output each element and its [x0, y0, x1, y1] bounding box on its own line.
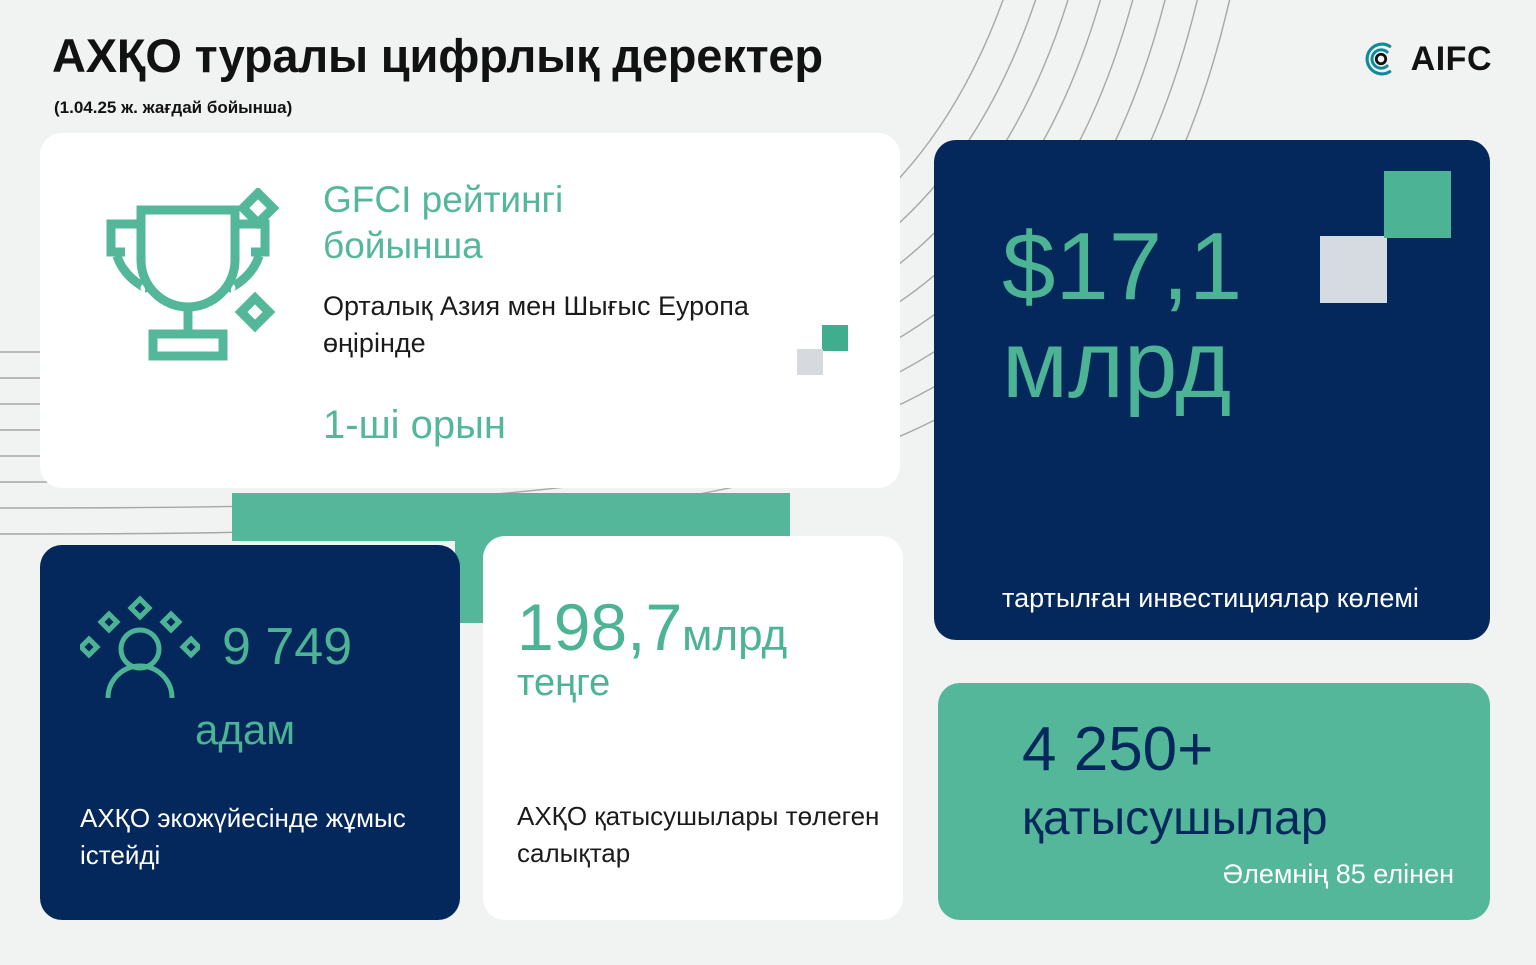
aifc-circle-mark-icon [1360, 38, 1402, 80]
taxes-unit: теңге [517, 664, 610, 702]
decoration-square-gray-small [797, 349, 823, 375]
employees-label: АХҚО экожүйесінде жұмыс істейді [80, 800, 460, 874]
employees-unit: адам [195, 709, 460, 751]
taxes-label: АХҚО қатысушылары төлеген салықтар [517, 798, 903, 872]
trophy-icon-wrap [40, 133, 285, 378]
connector-bar-horizontal [232, 493, 790, 541]
decoration-square-teal-large [1384, 171, 1451, 238]
aifc-logo: AIFC [1360, 38, 1492, 80]
card-participants: 4 250+ қатысушылар Әлемнің 85 елінен [938, 683, 1490, 920]
card-taxes: 198,7млрд теңге АХҚО қатысушылары төлеге… [483, 536, 903, 920]
participants-note: Әлемнің 85 елінен [1223, 861, 1454, 888]
gfci-rank-value: 1-ші орын [323, 403, 753, 448]
taxes-value: 198,7млрд [517, 594, 787, 660]
aifc-logo-text: AIFC [1411, 42, 1492, 76]
employees-number: 9 749 [222, 621, 352, 673]
participants-number: 4 250+ [1022, 719, 1213, 781]
investments-value: $17,1 млрд [1002, 218, 1242, 414]
participants-label: қатысушылар [1022, 795, 1328, 843]
investments-value-line1: $17,1 [1002, 213, 1242, 320]
trophy-icon [95, 188, 285, 373]
infographic-canvas: АХҚО туралы цифрлық деректер (1.04.25 ж.… [0, 0, 1536, 965]
card-employees: 9 749 адам АХҚО экожүйесінде жұмыс істей… [40, 545, 460, 920]
taxes-value-number: 198,7 [517, 590, 682, 664]
gfci-subtext: Орталық Азия мен Шығыс Еуропа өңірінде [323, 288, 753, 364]
gfci-text-block: GFCI рейтингі бойынша Орталық Азия мен Ш… [285, 133, 753, 448]
page-subtitle: (1.04.25 ж. жағдай бойынша) [54, 98, 292, 118]
taxes-value-suffix: млрд [682, 611, 787, 660]
decoration-square-teal-small [822, 325, 848, 351]
card-investments: $17,1 млрд тартылған инвестициялар көлем… [934, 140, 1490, 640]
page-title: АХҚО туралы цифрлық деректер [52, 28, 823, 83]
gfci-heading: GFCI рейтингі бойынша [323, 177, 653, 270]
person-sparkle-icon [80, 593, 200, 701]
card-gfci-ranking: GFCI рейтингі бойынша Орталық Азия мен Ш… [40, 133, 900, 488]
investments-value-line2: млрд [1002, 316, 1242, 414]
decoration-square-gray-large [1320, 236, 1387, 303]
investments-label: тартылған инвестициялар көлемі [1002, 580, 1419, 616]
